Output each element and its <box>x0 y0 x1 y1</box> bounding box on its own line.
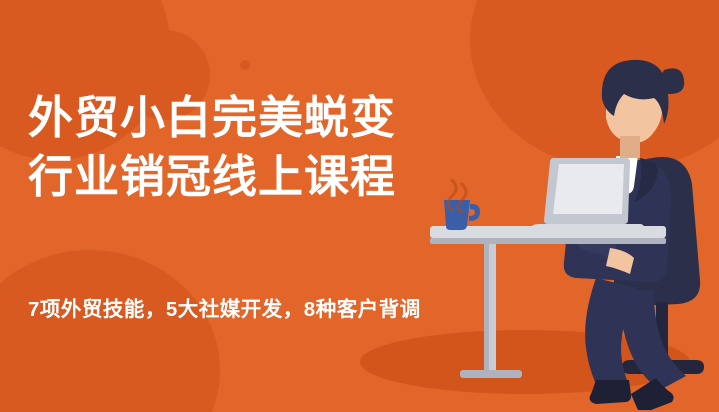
background-dot-3 <box>240 60 250 70</box>
headline-line-1: 外贸小白完美蜕变 <box>28 88 558 147</box>
headline-block: 外贸小白完美蜕变 行业销冠线上课程 <box>28 88 558 207</box>
background-dot-4 <box>35 330 49 344</box>
poster-canvas: 外贸小白完美蜕变 行业销冠线上课程 7项外贸技能，5大社媒开发，8种客户背调 <box>0 0 719 412</box>
background-blob-bottom-left <box>0 250 220 412</box>
person-head <box>602 60 684 158</box>
subline-text: 7项外贸技能，5大社媒开发，8种客户背调 <box>28 292 421 322</box>
headline-line-2: 行业销冠线上课程 <box>28 147 558 206</box>
